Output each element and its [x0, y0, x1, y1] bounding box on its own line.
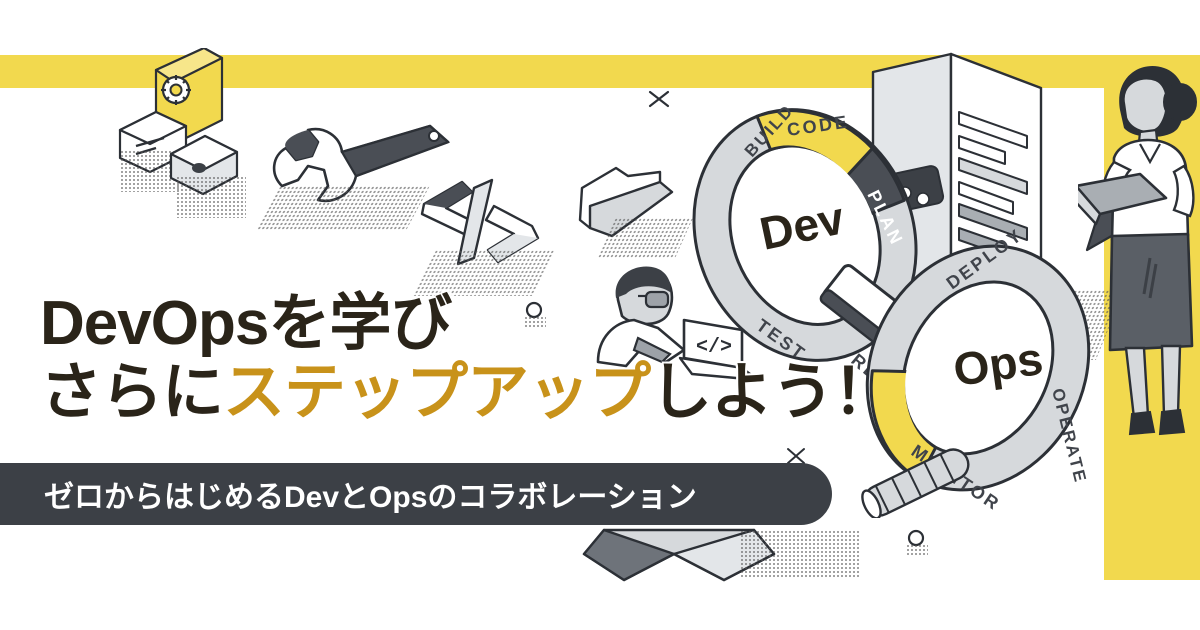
shadow-halftone — [740, 530, 860, 578]
headline-line-2-prefix: さらに — [40, 358, 223, 427]
person-with-laptop — [1078, 58, 1200, 488]
headline-block: DevOpsを学び さらにステップアップしよう！ — [40, 292, 894, 424]
headline-line-2: さらにステップアップしよう！ — [40, 361, 894, 424]
headline-line-2-suffix: しよう！ — [650, 358, 894, 427]
devops-promo-banner: BUILD CODE PLAN TEST Dev RELEASE DEPLOY … — [0, 0, 1200, 630]
pipe-icon — [855, 448, 985, 518]
shadow-halftone — [906, 544, 928, 556]
shadow-halftone — [256, 186, 429, 230]
subtitle-banner: ゼロからはじめるDevとOpsのコラボレーション — [0, 463, 832, 525]
headline-line-1: DevOpsを学び — [40, 292, 894, 355]
subtitle-text: ゼロからはじめるDevとOpsのコラボレーション — [44, 472, 697, 516]
headline-line-2-accent: ステップアップ — [223, 358, 650, 427]
shadow-halftone — [176, 176, 246, 218]
